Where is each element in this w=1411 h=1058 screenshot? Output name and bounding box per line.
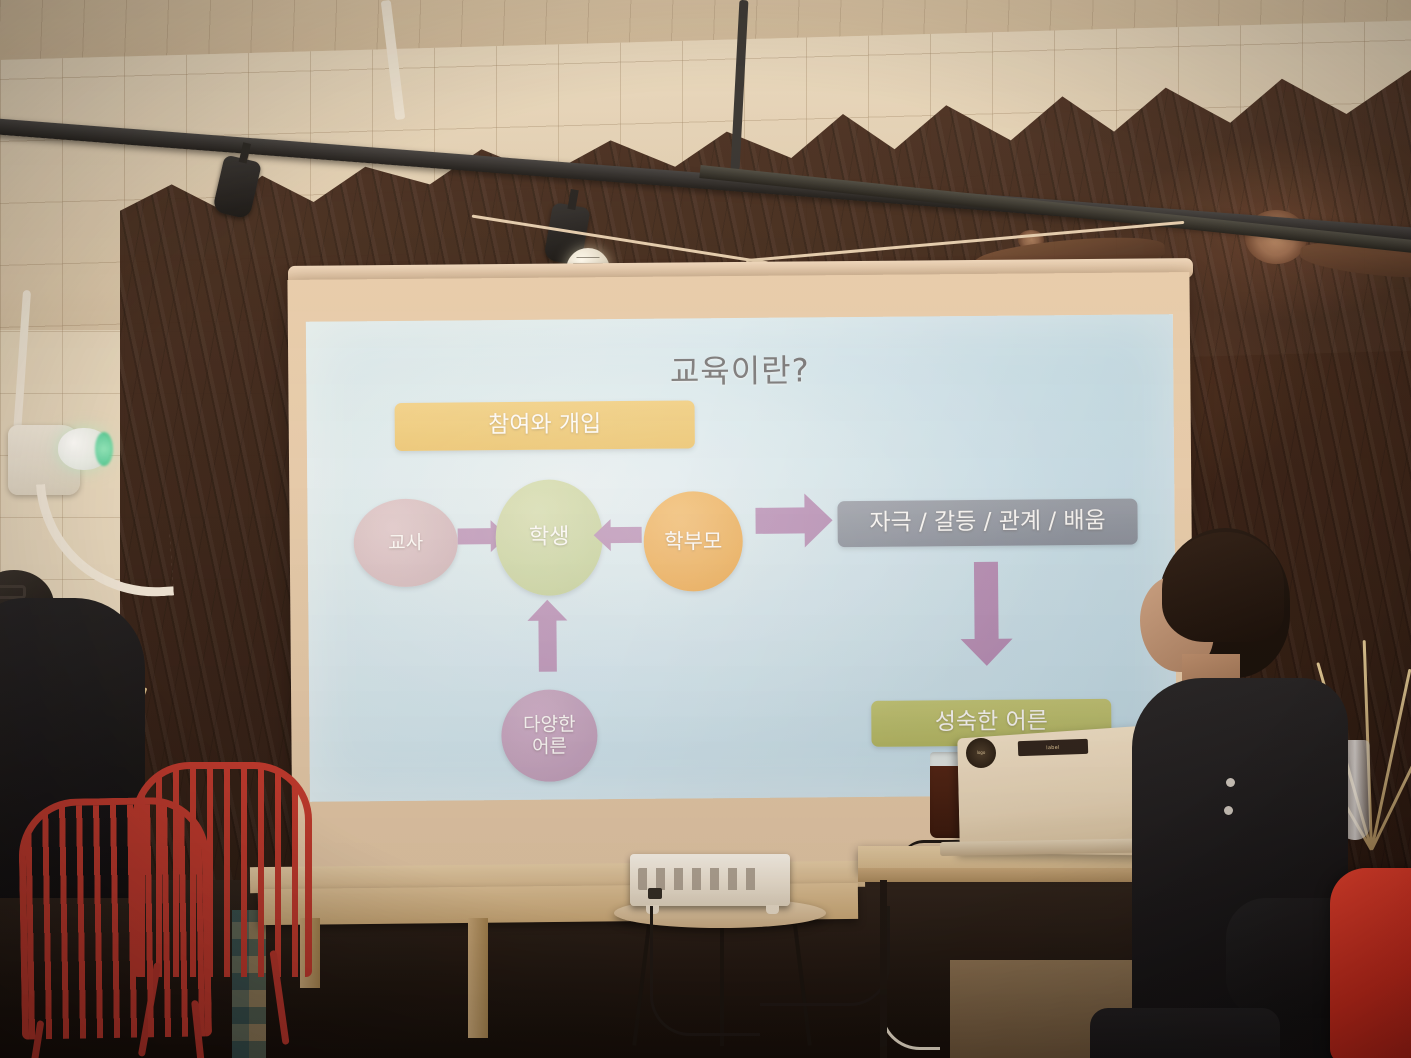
slide-title: 교육이란?	[306, 342, 1173, 396]
node-participation: 참여와 개입	[395, 400, 695, 451]
power-cable	[650, 906, 760, 1036]
presenter-leg	[1090, 1008, 1280, 1058]
red-chair-front[interactable]	[18, 796, 212, 1039]
presenter-hair	[1162, 532, 1284, 642]
desk-leg	[880, 880, 887, 1058]
bench-leg	[468, 918, 488, 1038]
glasses-icon	[0, 585, 26, 599]
arrow-adults-to-student	[538, 620, 556, 672]
arrow-to-stimulus	[755, 507, 805, 533]
led-bulb-icon	[58, 428, 110, 470]
node-parent: 학부모	[643, 491, 743, 592]
projector-ports	[638, 868, 758, 890]
projector-power-button[interactable]	[648, 888, 662, 899]
power-cable	[760, 906, 890, 1006]
node-stimulus: 자극 / 갈등 / 관계 / 배움	[837, 499, 1137, 548]
node-diverse-adults-line1: 다양한	[523, 713, 576, 735]
shirt-button	[1226, 778, 1235, 787]
arrow-teacher-to-student	[458, 528, 492, 544]
shirt-button	[1224, 806, 1233, 815]
node-teacher: 교사	[353, 498, 458, 587]
laptop-round-sticker-label: logo	[966, 738, 996, 768]
room-scene: 교육이란? 참여와 개입 교사 학생 학부모 자극 / 갈등 / 관계 / 배움…	[0, 0, 1411, 1058]
node-diverse-adults-line2: 어른	[532, 736, 567, 758]
laptop-round-sticker: logo	[966, 738, 996, 768]
red-cushion	[1330, 868, 1411, 1058]
arrow-stimulus-to-mature	[974, 562, 999, 640]
power-cable-white	[880, 860, 940, 1050]
node-diverse-adults: 다양한 어른	[501, 689, 598, 782]
projected-slide: 교육이란? 참여와 개입 교사 학생 학부모 자극 / 갈등 / 관계 / 배움…	[306, 314, 1177, 802]
projector[interactable]	[630, 854, 790, 906]
node-student: 학생	[495, 479, 603, 596]
arrow-parent-to-student	[610, 527, 642, 543]
laptop-bar-sticker-label: label	[1046, 744, 1060, 750]
laptop-bar-sticker: label	[1018, 739, 1088, 756]
